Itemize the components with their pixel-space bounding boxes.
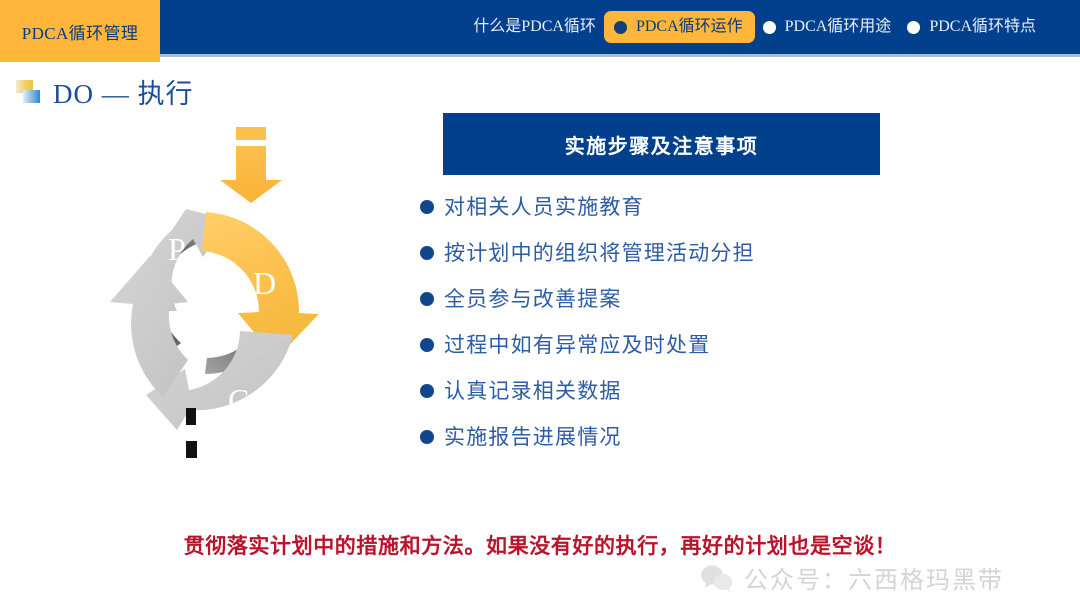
square-blue-icon xyxy=(23,90,40,103)
list-item-label: 过程中如有异常应及时处置 xyxy=(444,329,710,359)
brand-block: PDCA循环管理 xyxy=(0,0,160,62)
bullet-dot-icon xyxy=(763,21,776,34)
nav-label: 什么是PDCA循环 xyxy=(473,19,596,35)
down-arrow-icon xyxy=(220,127,282,203)
tick-mark xyxy=(186,408,196,425)
brand-title: PDCA循环管理 xyxy=(22,19,139,44)
nav-item-pdca-usage[interactable]: PDCA循环用途 xyxy=(755,11,900,43)
list-item-label: 按计划中的组织将管理活动分担 xyxy=(444,237,755,267)
bullet-dot-icon xyxy=(614,21,627,34)
bullet-dot-icon xyxy=(420,384,434,398)
watermark-label: 公众号：六西格玛黑带 xyxy=(744,560,1004,595)
slide-root: 什么是PDCA循环 PDCA循环运作 PDCA循环用途 PDCA循环特点 PDC… xyxy=(0,0,1080,608)
list-item: 按计划中的组织将管理活动分担 xyxy=(420,229,1040,275)
nav-label: PDCA循环用途 xyxy=(785,19,892,35)
watermark: 公众号：六西格玛黑带 xyxy=(700,560,1004,595)
top-nav: 什么是PDCA循环 PDCA循环运作 PDCA循环用途 PDCA循环特点 xyxy=(0,0,1080,54)
list-item-label: 实施报告进展情况 xyxy=(444,421,622,451)
steps-list: 对相关人员实施教育 按计划中的组织将管理活动分担 全员参与改善提案 过程中如有异… xyxy=(420,183,1040,459)
cycle-label-d: D xyxy=(253,265,276,301)
bullet-dot-icon xyxy=(420,292,434,306)
bullet-dot-icon xyxy=(420,246,434,260)
nav-label: PDCA循环特点 xyxy=(929,19,1036,35)
pdca-cycle-diagram: P D C A xyxy=(60,108,360,468)
header-underline xyxy=(0,54,1080,57)
list-item-label: 全员参与改善提案 xyxy=(444,283,622,313)
list-item: 对相关人员实施教育 xyxy=(420,183,1040,229)
panel-heading: 实施步骤及注意事项 xyxy=(443,113,880,175)
bullet-dot-icon xyxy=(420,338,434,352)
bullet-dot-icon xyxy=(420,430,434,444)
cycle-label-p: P xyxy=(168,231,186,267)
tick-mark xyxy=(186,441,197,458)
list-item-label: 对相关人员实施教育 xyxy=(444,191,644,221)
list-item: 实施报告进展情况 xyxy=(420,413,1040,459)
cycle-label-a: A xyxy=(103,355,126,391)
bullet-dot-icon xyxy=(907,21,920,34)
nav-item-pdca-features[interactable]: PDCA循环特点 xyxy=(899,11,1044,43)
nav-item-pdca-operation[interactable]: PDCA循环运作 xyxy=(604,11,755,43)
panel-heading-label: 实施步骤及注意事项 xyxy=(565,130,759,159)
cycle-label-c: C xyxy=(228,382,249,418)
footer-note: 贯彻落实计划中的措施和方法。如果没有好的执行，再好的计划也是空谈！ xyxy=(0,530,1080,560)
list-item-label: 认真记录相关数据 xyxy=(444,375,622,405)
wechat-icon xyxy=(700,563,734,593)
list-item: 全员参与改善提案 xyxy=(420,275,1040,321)
section-title: DO — 执行 xyxy=(16,72,194,111)
nav-label: PDCA循环运作 xyxy=(636,19,743,35)
nav-item-what-is-pdca[interactable]: 什么是PDCA循环 xyxy=(465,11,604,43)
page-title: DO — 执行 xyxy=(53,72,194,111)
bullet-dot-icon xyxy=(420,200,434,214)
list-item: 认真记录相关数据 xyxy=(420,367,1040,413)
list-item: 过程中如有异常应及时处置 xyxy=(420,321,1040,367)
two-squares-icon xyxy=(16,79,42,105)
